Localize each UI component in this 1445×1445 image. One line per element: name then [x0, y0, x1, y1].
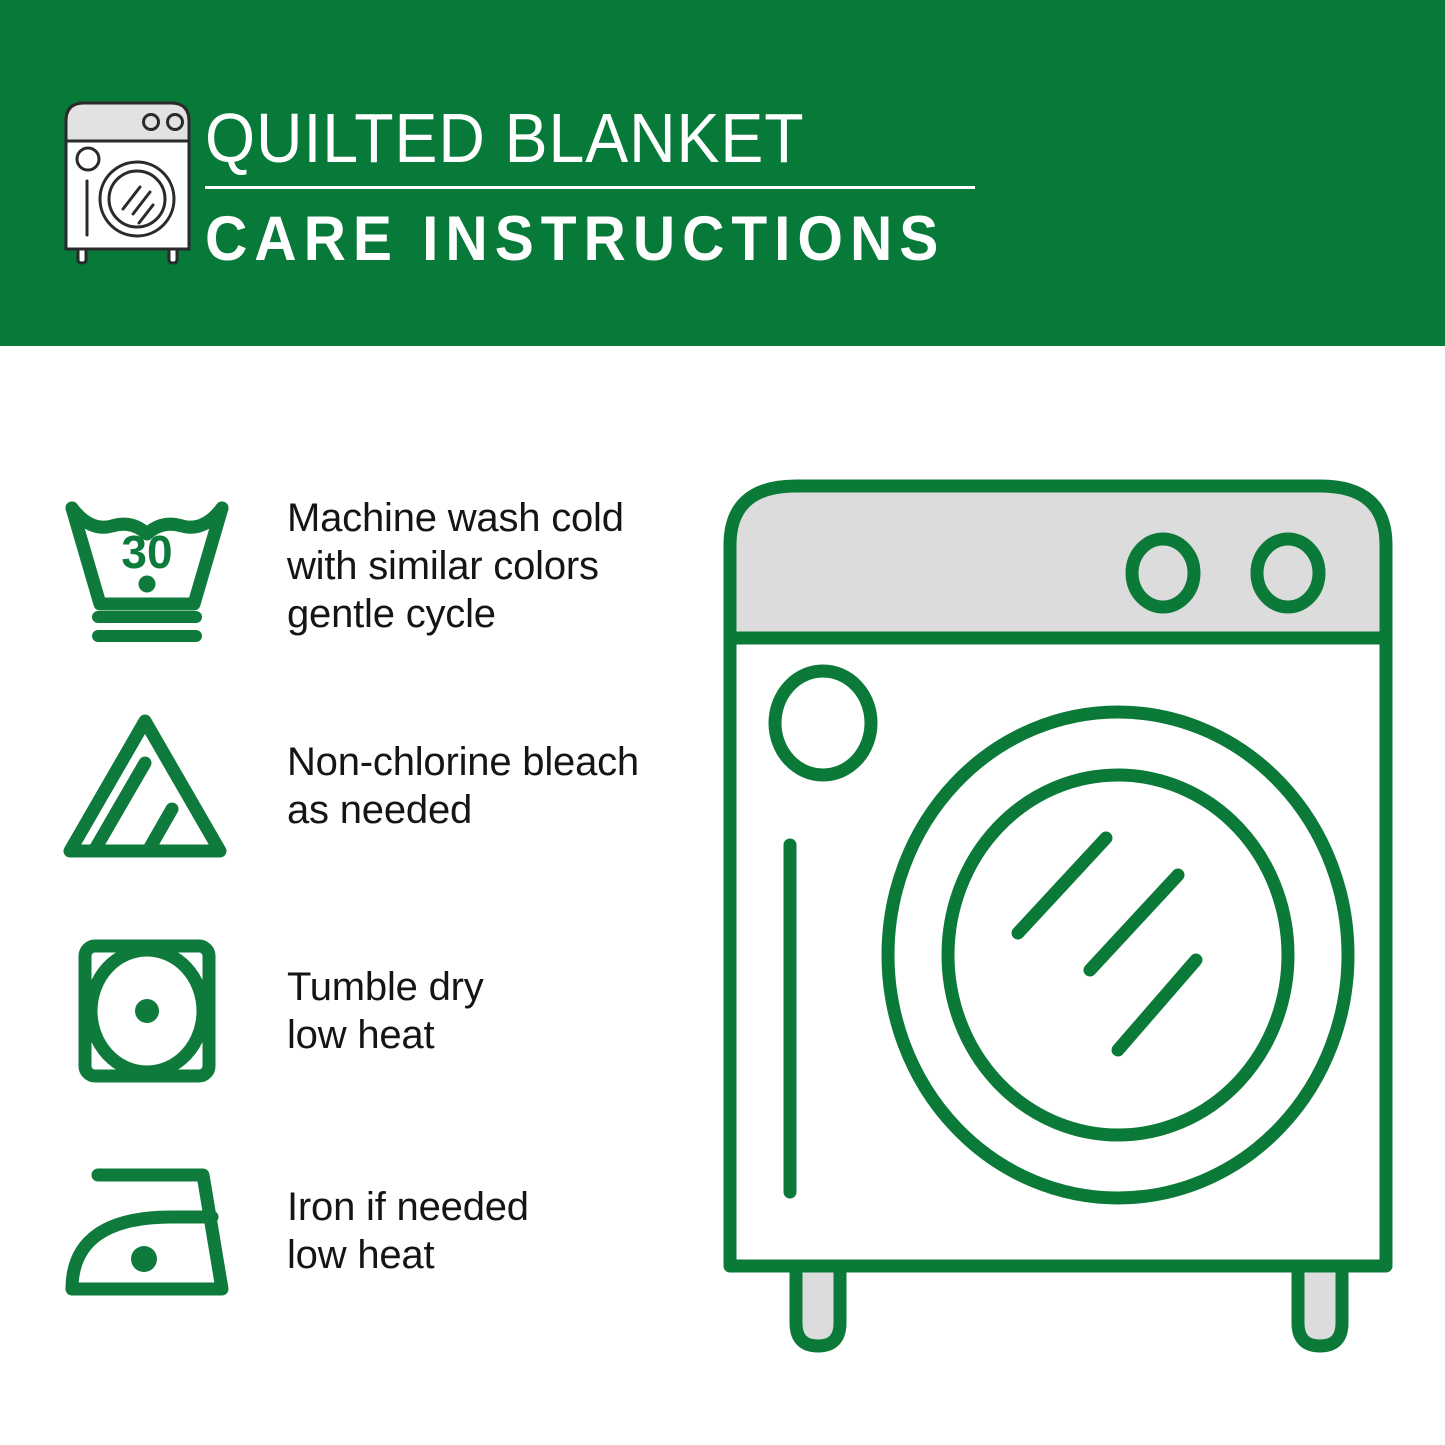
iron-icon: [60, 1144, 235, 1319]
svg-text:30: 30: [121, 526, 172, 578]
care-row-iron: Iron if needed low heat: [0, 1141, 700, 1321]
header-washing-machine-icon: [60, 97, 195, 262]
page-title: QUILTED BLANKET: [205, 96, 923, 180]
door-inner-ring: [948, 775, 1288, 1135]
detergent-dispenser-icon: [775, 671, 871, 775]
non-chlorine-bleach-triangle-icon: [60, 699, 235, 874]
care-label-bleach: Non-chlorine bleach as needed: [287, 738, 639, 834]
header-banner: QUILTED BLANKET CARE INSTRUCTIONS: [0, 0, 1445, 346]
care-label-machine-wash: Machine wash cold with similar colors ge…: [287, 494, 624, 638]
washing-machine-illustration: [718, 470, 1398, 1360]
door-shine-strokes: [1018, 838, 1196, 1050]
machine-wash-tub-icon: 30: [60, 479, 235, 654]
care-row-machine-wash: 30 Machine wash cold with similar colors…: [0, 471, 700, 661]
care-label-tumble-dry: Tumble dry low heat: [287, 963, 484, 1059]
care-row-bleach: Non-chlorine bleach as needed: [0, 691, 700, 881]
care-instructions-page: QUILTED BLANKET CARE INSTRUCTIONS 30: [0, 0, 1445, 1445]
title-divider: [205, 186, 975, 189]
door-outer-ring: [888, 712, 1348, 1198]
control-panel-fill: [730, 486, 1386, 638]
tumble-dry-square-icon: [60, 924, 235, 1099]
header-text-block: QUILTED BLANKET CARE INSTRUCTIONS: [205, 96, 985, 275]
machine-leg-right: [1298, 1266, 1342, 1346]
machine-leg-left: [796, 1266, 840, 1346]
care-label-iron: Iron if needed low heat: [287, 1183, 529, 1279]
care-instruction-list: 30 Machine wash cold with similar colors…: [0, 346, 700, 1445]
care-row-tumble-dry: Tumble dry low heat: [0, 921, 700, 1101]
page-subtitle: CARE INSTRUCTIONS: [205, 203, 930, 275]
